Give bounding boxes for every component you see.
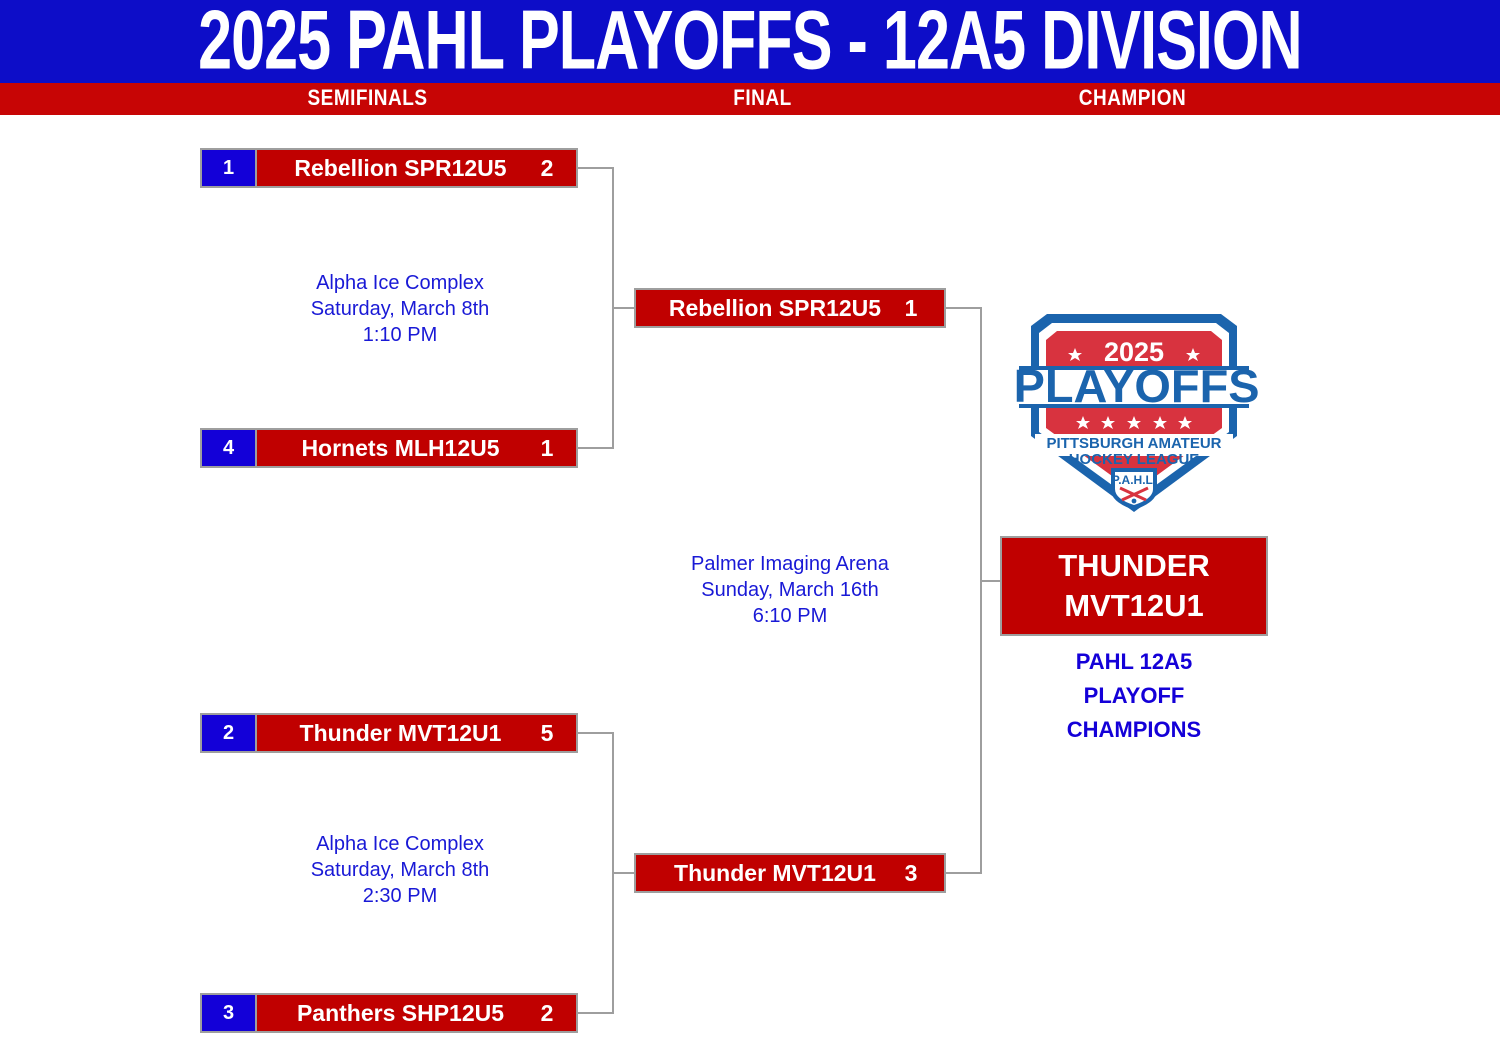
- team-score: 1: [900, 295, 922, 322]
- team-name: Thunder MVT12U1: [271, 720, 536, 747]
- logo-wordmark-text: PLAYOFFS: [1014, 360, 1260, 411]
- game-date: Saturday, March 8th: [250, 857, 550, 883]
- connector-final-bottom: [946, 872, 982, 874]
- team-bar: Hornets MLH12U5 1: [257, 430, 576, 466]
- game-time: 6:10 PM: [635, 603, 945, 629]
- team-name: Rebellion SPR12U5: [271, 155, 536, 182]
- champion-caption-line2: PLAYOFF: [1000, 679, 1268, 713]
- team-name: Rebellion SPR12U5: [656, 295, 900, 322]
- match-row-semifinal1-team1[interactable]: 1 Rebellion SPR12U5 2: [200, 148, 578, 188]
- team-score: 3: [900, 860, 922, 887]
- match-row-semifinal1-team2[interactable]: 4 Hornets MLH12U5 1: [200, 428, 578, 468]
- connector-champion-out: [980, 580, 1002, 582]
- team-score: 2: [536, 155, 558, 182]
- game-time: 1:10 PM: [250, 322, 550, 348]
- round-label-semifinals-text: SEMIFINALS: [307, 86, 427, 112]
- connector-semifinal2-bottom: [578, 1012, 614, 1014]
- team-score: 2: [536, 1000, 558, 1027]
- champion-caption: PAHL 12A5 PLAYOFF CHAMPIONS: [1000, 645, 1268, 747]
- round-label-final: FINAL: [635, 83, 890, 115]
- logo-ribbon-line1: PITTSBURGH AMATEUR: [1047, 435, 1222, 452]
- pahl-playoffs-logo-icon: 2025 PLAYOFFS PITTSBURGH AMATEUR HOCKEY …: [1005, 298, 1263, 526]
- team-name: Thunder MVT12U1: [656, 860, 900, 887]
- match-row-final-team1[interactable]: Rebellion SPR12U5 1: [634, 288, 946, 328]
- game-date: Saturday, March 8th: [250, 296, 550, 322]
- team-bar: Thunder MVT12U1 3: [636, 855, 944, 891]
- page-title: 2025 PAHL PLAYOFFS - 12A5 DIVISION: [198, 0, 1302, 83]
- round-label-champion-text: CHAMPION: [1079, 86, 1186, 112]
- game-info-semifinal1: Alpha Ice Complex Saturday, March 8th 1:…: [250, 270, 550, 348]
- game-venue: Palmer Imaging Arena: [635, 551, 945, 577]
- champion-name-line2: MVT12U1: [1064, 586, 1204, 626]
- champion-box[interactable]: THUNDER MVT12U1: [1000, 536, 1268, 636]
- team-bar: Panthers SHP12U5 2: [257, 995, 576, 1031]
- game-info-semifinal2: Alpha Ice Complex Saturday, March 8th 2:…: [250, 831, 550, 909]
- match-row-semifinal2-team1[interactable]: 2 Thunder MVT12U1 5: [200, 713, 578, 753]
- champion-caption-line1: PAHL 12A5: [1000, 645, 1268, 679]
- connector-final-top: [946, 307, 982, 309]
- round-label-semifinals: SEMIFINALS: [195, 83, 540, 115]
- logo-ribbon-line2: HOCKEY LEAGUE: [1069, 451, 1200, 468]
- round-label-champion: CHAMPION: [995, 83, 1270, 115]
- match-row-semifinal2-team2[interactable]: 3 Panthers SHP12U5 2: [200, 993, 578, 1033]
- connector-semifinal1-top: [578, 167, 614, 169]
- game-info-final: Palmer Imaging Arena Sunday, March 16th …: [635, 551, 945, 629]
- round-label-final-text: FINAL: [733, 86, 791, 112]
- team-name: Hornets MLH12U5: [271, 435, 536, 462]
- team-name: Panthers SHP12U5: [271, 1000, 536, 1027]
- seed-number: 3: [202, 995, 257, 1031]
- connector-semifinal1-out: [612, 307, 636, 309]
- game-date: Sunday, March 16th: [635, 577, 945, 603]
- team-bar: Thunder MVT12U1 5: [257, 715, 576, 751]
- round-header-bar: SEMIFINALS FINAL CHAMPION: [0, 83, 1500, 115]
- connector-semifinal2-out: [612, 872, 636, 874]
- team-bar: Rebellion SPR12U5 1: [636, 290, 944, 326]
- team-score: 1: [536, 435, 558, 462]
- match-row-final-team2[interactable]: Thunder MVT12U1 3: [634, 853, 946, 893]
- team-bar: Rebellion SPR12U5 2: [257, 150, 576, 186]
- seed-number: 1: [202, 150, 257, 186]
- game-venue: Alpha Ice Complex: [250, 831, 550, 857]
- champion-name-line1: THUNDER: [1058, 546, 1210, 586]
- logo-crest-text: P.A.H.L.: [1112, 473, 1156, 487]
- game-venue: Alpha Ice Complex: [250, 270, 550, 296]
- team-score: 5: [536, 720, 558, 747]
- champion-caption-line3: CHAMPIONS: [1000, 713, 1268, 747]
- connector-semifinal2-top: [578, 732, 614, 734]
- connector-final-vertical: [980, 307, 982, 874]
- seed-number: 4: [202, 430, 257, 466]
- seed-number: 2: [202, 715, 257, 751]
- connector-semifinal1-bottom: [578, 447, 614, 449]
- game-time: 2:30 PM: [250, 883, 550, 909]
- title-banner: 2025 PAHL PLAYOFFS - 12A5 DIVISION: [0, 0, 1500, 83]
